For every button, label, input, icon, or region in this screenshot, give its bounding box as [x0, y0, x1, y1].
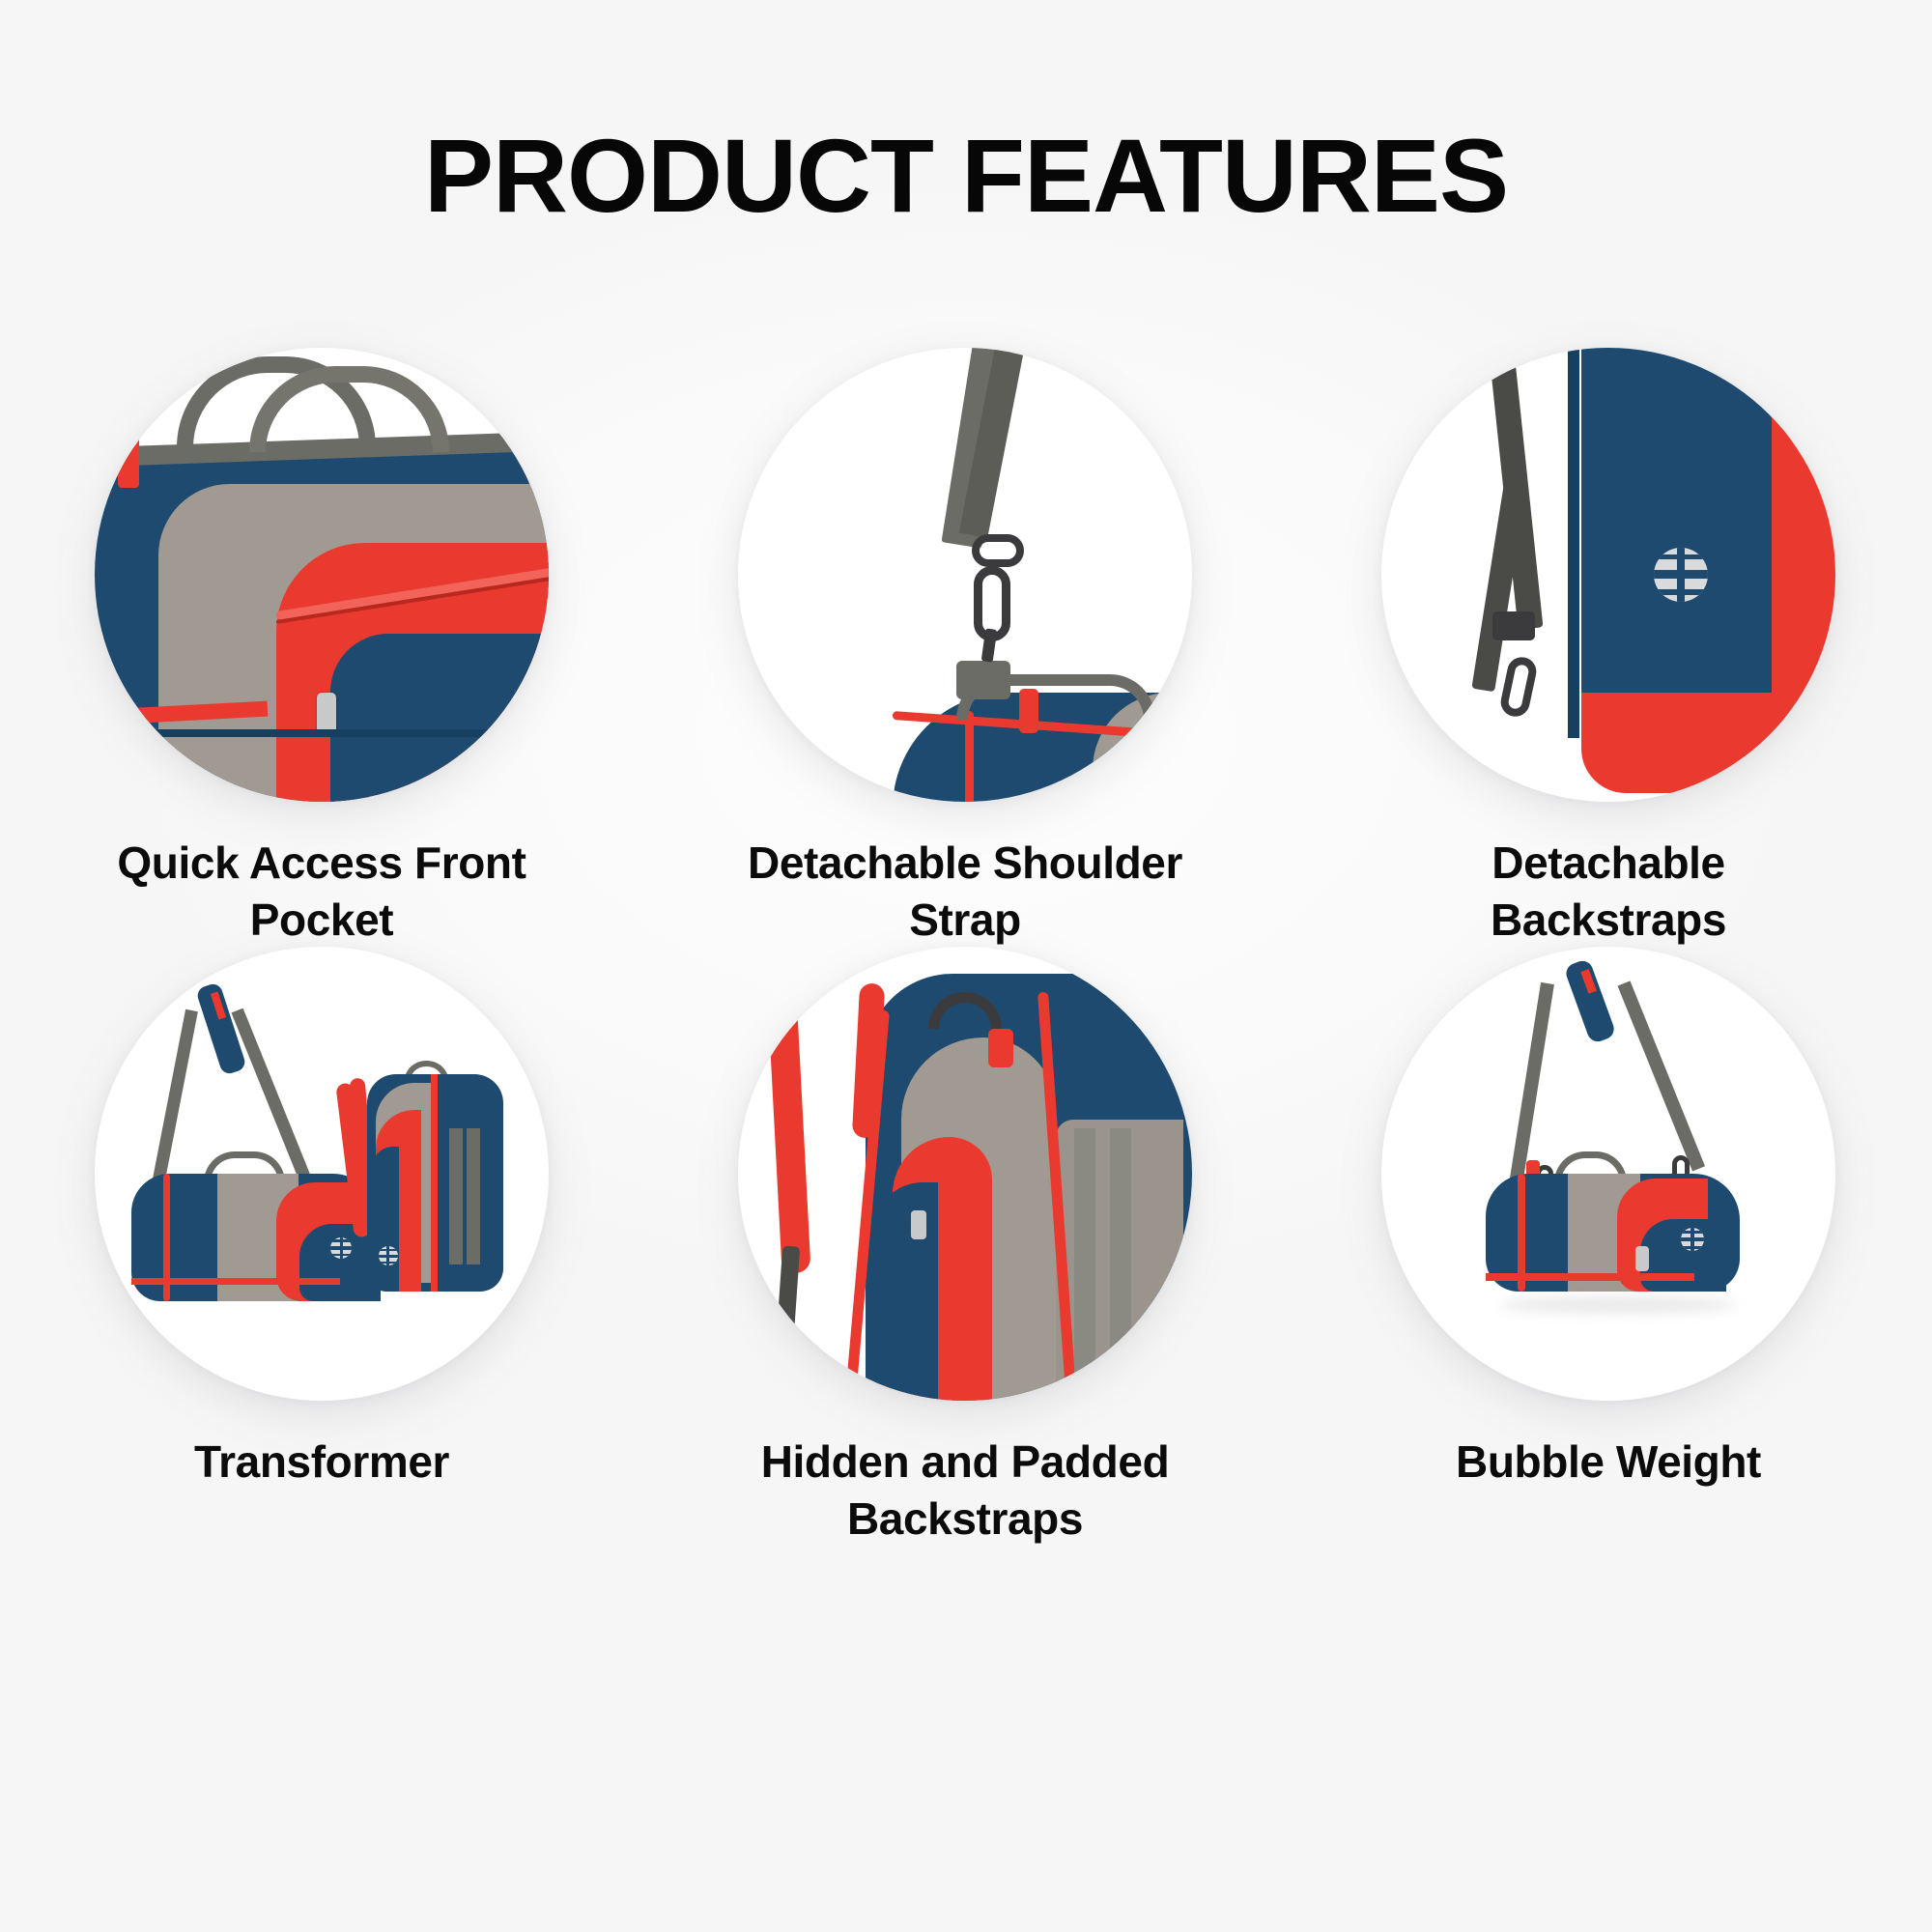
brand-logo-icon [1654, 548, 1708, 602]
brand-logo-icon [379, 1246, 398, 1265]
feature-caption: Detachable Shoulder Strap [695, 835, 1236, 949]
feature-card-detachable-backstraps[interactable]: Detachable Backstraps [1287, 348, 1930, 947]
feature-card-transformer[interactable]: Transformer [0, 947, 643, 1546]
zipper-pull-icon [1635, 1246, 1649, 1271]
feature-caption: Detachable Backstraps [1401, 835, 1816, 949]
feature-caption: Transformer [51, 1434, 592, 1491]
page-title: PRODUCT FEATURES [0, 124, 1932, 228]
circle-photo-frame [95, 947, 549, 1401]
d-ring-icon [972, 534, 1024, 567]
feature-card-quick-access-front-pocket[interactable]: Quick Access Front Pocket [0, 348, 643, 947]
clip-hook-icon [1498, 654, 1539, 719]
features-row-2: Transformer [0, 947, 1932, 1546]
feature-card-bubble-weight[interactable]: Bubble Weight [1287, 947, 1930, 1546]
strap-buckle-icon [1492, 611, 1535, 640]
feature-image-hidden-and-padded-backstraps [738, 947, 1192, 1401]
brand-logo-icon [330, 1237, 352, 1259]
feature-image-quick-access-front-pocket [95, 348, 549, 802]
shoulder-strap-closeup-art [738, 348, 1192, 802]
detachable-backstraps-closeup-art [1381, 348, 1835, 802]
feature-caption: Quick Access Front Pocket [51, 835, 592, 949]
product-features-infographic: PRODUCT FEATURES [0, 0, 1932, 1932]
circle-photo-frame [1381, 348, 1835, 802]
brand-logo-icon [1681, 1228, 1704, 1251]
feature-card-detachable-shoulder-strap[interactable]: Detachable Shoulder Strap [643, 348, 1287, 947]
shoulder-strap-webbing [151, 1009, 198, 1190]
padded-backstrap [767, 991, 810, 1274]
circle-photo-frame [95, 348, 549, 802]
circle-photo-frame [738, 947, 1192, 1401]
feature-image-detachable-shoulder-strap [738, 348, 1192, 802]
feature-caption: Hidden and Padded Backstraps [695, 1434, 1236, 1548]
padded-backstraps-closeup-art [738, 947, 1192, 1401]
features-grid: Quick Access Front Pocket [0, 348, 1932, 1546]
shoulder-pad [1563, 958, 1616, 1044]
features-row-1: Quick Access Front Pocket [0, 348, 1932, 947]
zipper-pull-icon [988, 1029, 1013, 1067]
feature-image-bubble-weight [1381, 947, 1835, 1401]
circle-photo-frame [738, 348, 1192, 802]
feature-image-detachable-backstraps [1381, 348, 1835, 802]
shoulder-strap-webbing [1509, 981, 1553, 1180]
feature-card-hidden-and-padded-backstraps[interactable]: Hidden and Padded Backstraps [643, 947, 1287, 1546]
circle-photo-frame [1381, 947, 1835, 1401]
hanging-duffel-bag-art [1381, 947, 1835, 1401]
feature-caption: Bubble Weight [1401, 1434, 1816, 1491]
feature-image-transformer [95, 947, 549, 1401]
transformer-duffel-and-backpack-art [95, 947, 549, 1401]
bag-front-pocket-closeup-art [95, 348, 549, 802]
